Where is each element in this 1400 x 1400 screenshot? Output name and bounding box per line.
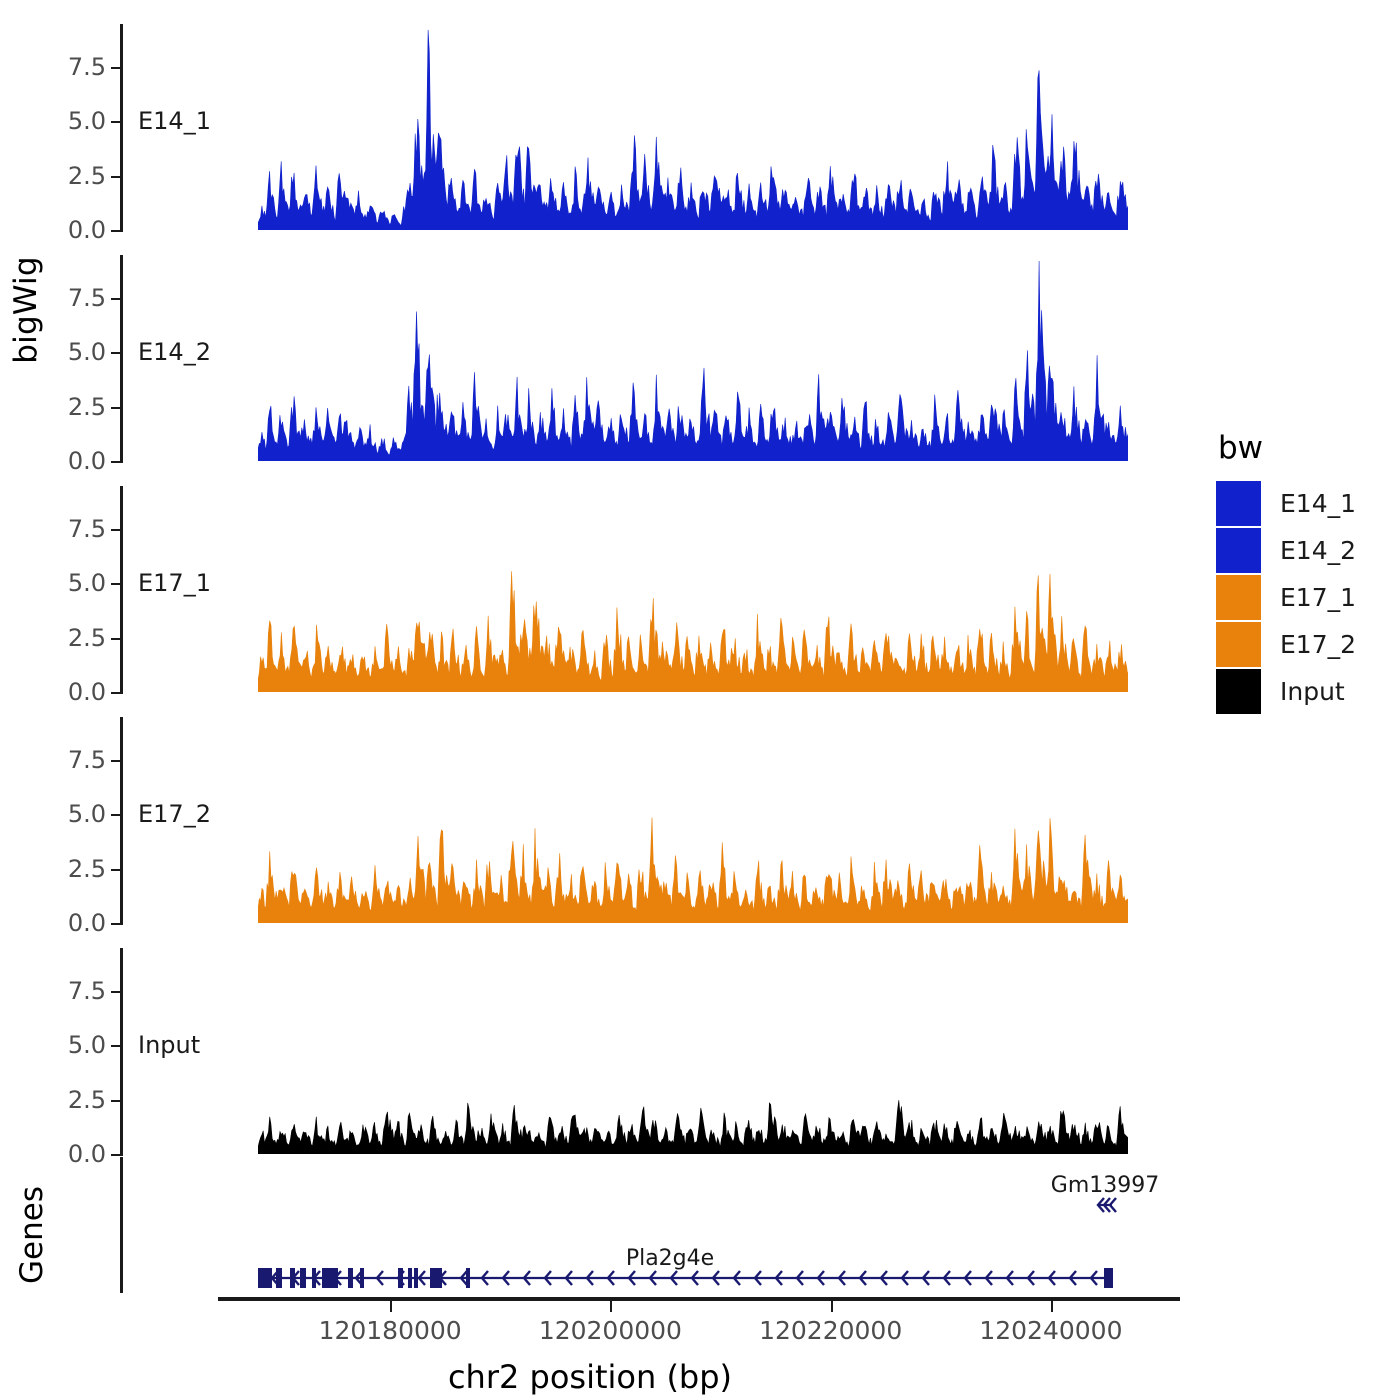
y-tick-label: 2.5 xyxy=(10,393,106,421)
y-tick xyxy=(111,298,120,300)
figure-root: bigWig Genes 0.02.55.07.5E14_10.02.55.07… xyxy=(0,0,1400,1400)
y-tick xyxy=(111,1100,120,1102)
y-tick-label: 2.5 xyxy=(10,1086,106,1114)
legend: bw E14_1E14_2E17_1E17_2Input xyxy=(1216,430,1396,715)
y-tick-label: 0.0 xyxy=(10,216,106,244)
legend-color-swatch xyxy=(1216,528,1261,573)
y-tick-label: 5.0 xyxy=(10,800,106,828)
coverage-area-e17_1 xyxy=(258,492,1128,692)
y-tick xyxy=(111,407,120,409)
track-label-e17_1: E17_1 xyxy=(138,569,211,597)
panel-axis-line xyxy=(120,24,123,232)
legend-item-e14_2[interactable]: E14_2 xyxy=(1216,527,1396,574)
y-tick-label: 5.0 xyxy=(10,1031,106,1059)
legend-color-swatch xyxy=(1216,669,1261,714)
track-label-e17_2: E17_2 xyxy=(138,800,211,828)
legend-item-label: E14_1 xyxy=(1280,489,1356,518)
legend-item-e17_1[interactable]: E17_1 xyxy=(1216,574,1396,621)
coverage-area-e14_1 xyxy=(258,30,1128,230)
y-tick xyxy=(111,760,120,762)
y-tick xyxy=(111,1154,120,1156)
x-tick xyxy=(390,1301,392,1312)
y-tick xyxy=(111,230,120,232)
panel-axis-line xyxy=(120,486,123,694)
bigwig-panel-e14_1: 0.02.55.07.5E14_1 xyxy=(120,30,1138,230)
y-tick xyxy=(111,461,120,463)
legend-item-e17_2[interactable]: E17_2 xyxy=(1216,621,1396,668)
coverage-area-e14_2 xyxy=(258,261,1128,461)
y-tick xyxy=(111,923,120,925)
y-tick-label: 0.0 xyxy=(10,447,106,475)
x-tick xyxy=(831,1301,833,1312)
bigwig-panel-e17_1: 0.02.55.07.5E17_1 xyxy=(120,492,1138,692)
legend-color-swatch xyxy=(1216,622,1261,667)
legend-title: bw xyxy=(1218,430,1396,466)
legend-color-swatch xyxy=(1216,575,1261,620)
legend-color-swatch xyxy=(1216,481,1261,526)
y-tick-label: 7.5 xyxy=(10,977,106,1005)
legend-items: E14_1E14_2E17_1E17_2Input xyxy=(1216,480,1396,715)
bigwig-panel-e17_2: 0.02.55.07.5E17_2 xyxy=(120,723,1138,923)
legend-item-e14_1[interactable]: E14_1 xyxy=(1216,480,1396,527)
x-tick-label: 120240000 xyxy=(979,1316,1122,1345)
legend-item-label: E17_2 xyxy=(1280,630,1356,659)
panel-axis-line xyxy=(120,255,123,463)
y-tick-label: 2.5 xyxy=(10,162,106,190)
track-label-e14_2: E14_2 xyxy=(138,338,211,366)
y-tick-label: 7.5 xyxy=(10,53,106,81)
legend-item-label: Input xyxy=(1280,677,1345,706)
track-label-input: Input xyxy=(138,1031,200,1059)
bigwig-panel-e14_2: 0.02.55.07.5E14_2 xyxy=(120,261,1138,461)
x-tick-label: 120220000 xyxy=(759,1316,902,1345)
y-tick xyxy=(111,991,120,993)
x-axis-title: chr2 position (bp) xyxy=(0,1358,1180,1396)
track-label-e14_1: E14_1 xyxy=(138,107,211,135)
genes-glyph-layer xyxy=(0,1157,1180,1307)
bigwig-panel-input: 0.02.55.07.5Input xyxy=(120,954,1138,1154)
y-tick xyxy=(111,814,120,816)
y-tick xyxy=(111,67,120,69)
y-tick xyxy=(111,638,120,640)
y-tick xyxy=(111,692,120,694)
y-tick-label: 5.0 xyxy=(10,338,106,366)
y-tick xyxy=(111,869,120,871)
y-tick xyxy=(111,352,120,354)
legend-item-label: E17_1 xyxy=(1280,583,1356,612)
x-tick-label: 120200000 xyxy=(539,1316,682,1345)
y-tick-label: 7.5 xyxy=(10,746,106,774)
y-tick-label: 7.5 xyxy=(10,284,106,312)
y-tick-label: 7.5 xyxy=(10,515,106,543)
y-tick xyxy=(111,121,120,123)
panel-axis-line xyxy=(120,717,123,925)
y-tick xyxy=(111,176,120,178)
y-tick-label: 5.0 xyxy=(10,569,106,597)
coverage-area-e17_2 xyxy=(258,723,1128,923)
y-tick-label: 0.0 xyxy=(10,909,106,937)
y-tick-label: 5.0 xyxy=(10,107,106,135)
coverage-area-input xyxy=(258,954,1128,1154)
y-tick-label: 2.5 xyxy=(10,624,106,652)
x-axis-line xyxy=(218,1297,1180,1301)
legend-item-input[interactable]: Input xyxy=(1216,668,1396,715)
y-tick-label: 0.0 xyxy=(10,678,106,706)
y-tick-label: 2.5 xyxy=(10,855,106,883)
panel-axis-line xyxy=(120,948,123,1156)
y-tick xyxy=(111,583,120,585)
x-tick xyxy=(1051,1301,1053,1312)
y-tick xyxy=(111,1045,120,1047)
y-tick xyxy=(111,529,120,531)
x-tick-label: 120180000 xyxy=(319,1316,462,1345)
legend-item-label: E14_2 xyxy=(1280,536,1356,565)
x-tick xyxy=(610,1301,612,1312)
